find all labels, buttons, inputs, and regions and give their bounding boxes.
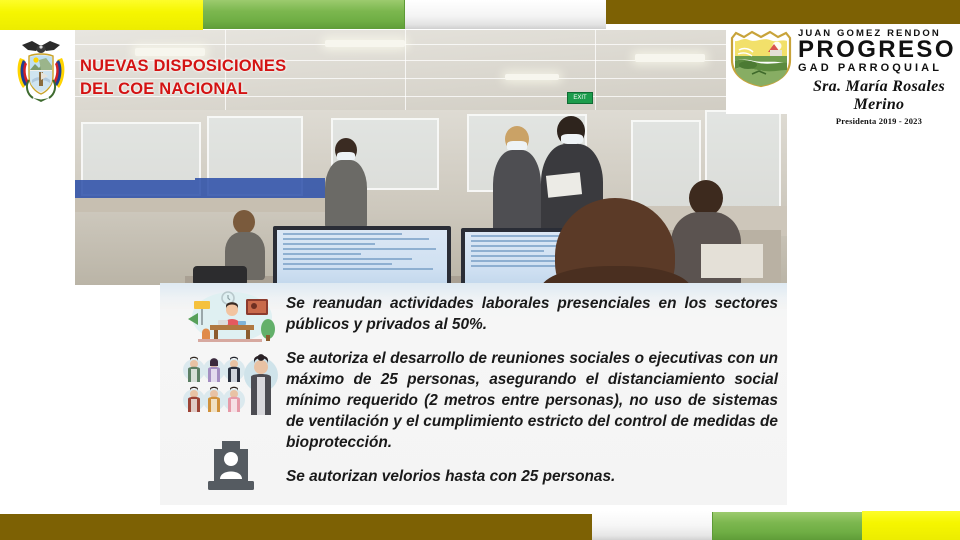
disposition-text-3: Se autorizan velorios hasta con 25 perso… [286, 466, 778, 487]
icons-column [178, 287, 282, 501]
gad-logo-line-3: GAD PARROQUIAL [798, 62, 960, 74]
bottom-yellow-bar [862, 511, 960, 540]
top-brown-bar [606, 0, 960, 24]
disposition-text-1: Se reanudan actividades laborales presen… [286, 293, 778, 335]
bottom-brown-bar [0, 514, 606, 540]
title-line-2: DEL COE NACIONAL [80, 78, 286, 101]
top-green-bar [202, 0, 405, 29]
ecuador-coat-of-arms-icon [12, 36, 70, 104]
gad-logo-president-term: Presidenta 2019 - 2023 [798, 116, 960, 126]
dispositions-text-column: Se reanudan actividades laborales presen… [286, 293, 778, 487]
top-white-bar [404, 0, 606, 29]
tombstone-memorial-icon [202, 439, 260, 495]
top-yellow-bar [0, 0, 203, 30]
bottom-green-bar [712, 512, 864, 540]
office-work-icon [184, 289, 280, 343]
progreso-parish-shield-icon [726, 30, 796, 88]
dispositions-panel: Se reanudan actividades laborales presen… [160, 283, 787, 505]
gad-logo-line-2: PROGRESO [798, 38, 960, 62]
gad-logo-president-name: Sra. María Rosales Merino [798, 78, 960, 114]
exit-sign: EXIT [567, 92, 593, 104]
slide-title: NUEVAS DISPOSICIONES DEL COE NACIONAL [80, 55, 286, 101]
title-line-1: NUEVAS DISPOSICIONES [80, 55, 286, 78]
slide-canvas: EXIT [0, 0, 960, 540]
gad-progreso-logo: JUAN GOMEZ RENDON PROGRESO GAD PARROQUIA… [726, 26, 960, 114]
disposition-text-2: Se autoriza el desarrollo de reuniones s… [286, 348, 778, 453]
group-of-people-icon [182, 353, 280, 417]
